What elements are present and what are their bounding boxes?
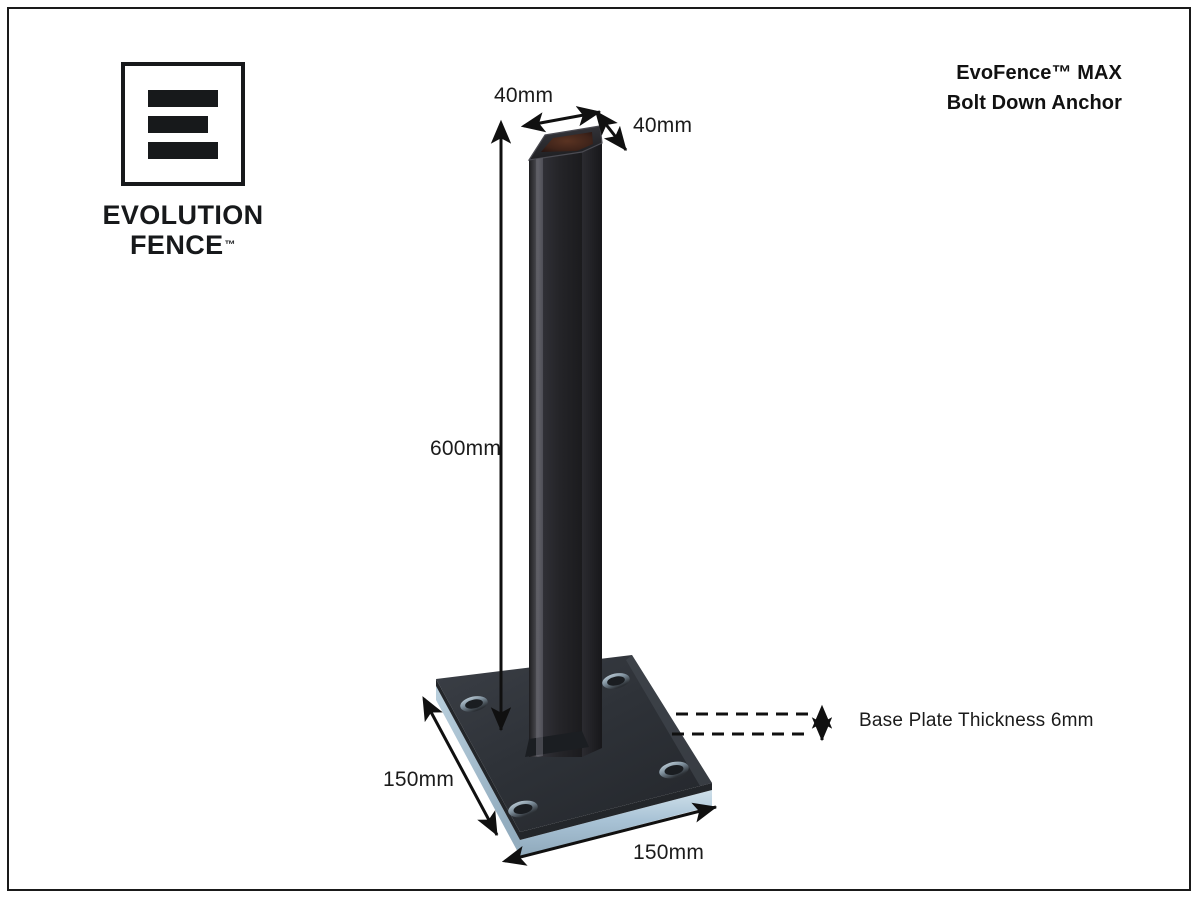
dimension-label-plate-depth: 150mm [383, 768, 454, 792]
diagram-sheet: EVOLUTION FENCE™ EvoFence™ MAX Bolt Down… [0, 0, 1200, 900]
product-illustration: 40mm 40mm 600mm 150mm 150mm Base Plate T… [0, 0, 1200, 900]
dimension-label-post-width: 40mm [494, 84, 553, 108]
dimension-label-plate-width: 150mm [633, 841, 704, 865]
square-post [525, 126, 602, 757]
post-right-face [582, 143, 602, 757]
dimension-label-post-height: 600mm [430, 437, 501, 461]
anchor-post-drawing [0, 0, 1200, 900]
dimension-label-post-depth: 40mm [633, 114, 692, 138]
dimension-label-plate-thickness: Base Plate Thickness 6mm [859, 710, 1094, 732]
post-highlight-stripe [536, 158, 543, 756]
dim-line-post-width [524, 112, 600, 126]
